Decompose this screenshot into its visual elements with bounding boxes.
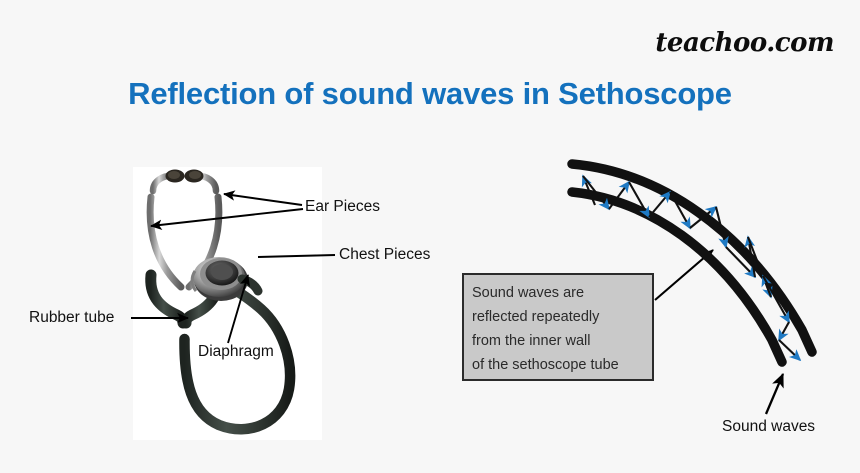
- label-sound-waves: Sound waves: [722, 418, 815, 436]
- ear-tips: [166, 170, 204, 183]
- info-line-4: of the sethoscope tube: [472, 353, 652, 377]
- label-diaphragm: Diaphragm: [198, 343, 274, 361]
- info-box-leader-line: [655, 250, 713, 300]
- info-line-1: Sound waves are: [472, 281, 652, 305]
- label-rubber-tube: Rubber tube: [29, 309, 114, 327]
- sound-waves-leader-line: [766, 374, 783, 414]
- label-chest-pieces: Chest Pieces: [339, 246, 430, 264]
- info-callout-box: Sound waves are reflected repeatedly fro…: [462, 273, 654, 381]
- page-title: Reflection of sound waves in Sethoscope: [0, 76, 860, 112]
- sound-reflection-diagram: [0, 0, 860, 473]
- info-line-3: from the inner wall: [472, 329, 652, 353]
- annotation-lines-layer: [0, 0, 860, 473]
- teachoo-watermark: teachoo.com: [655, 28, 834, 58]
- slide-root: teachoo.com Reflection of sound waves in…: [0, 0, 860, 473]
- stethoscope-photo-panel: [133, 167, 322, 440]
- stethoscope-illustration: [133, 167, 322, 440]
- label-ear-pieces: Ear Pieces: [305, 198, 380, 216]
- info-line-2: reflected repeatedly: [472, 305, 652, 329]
